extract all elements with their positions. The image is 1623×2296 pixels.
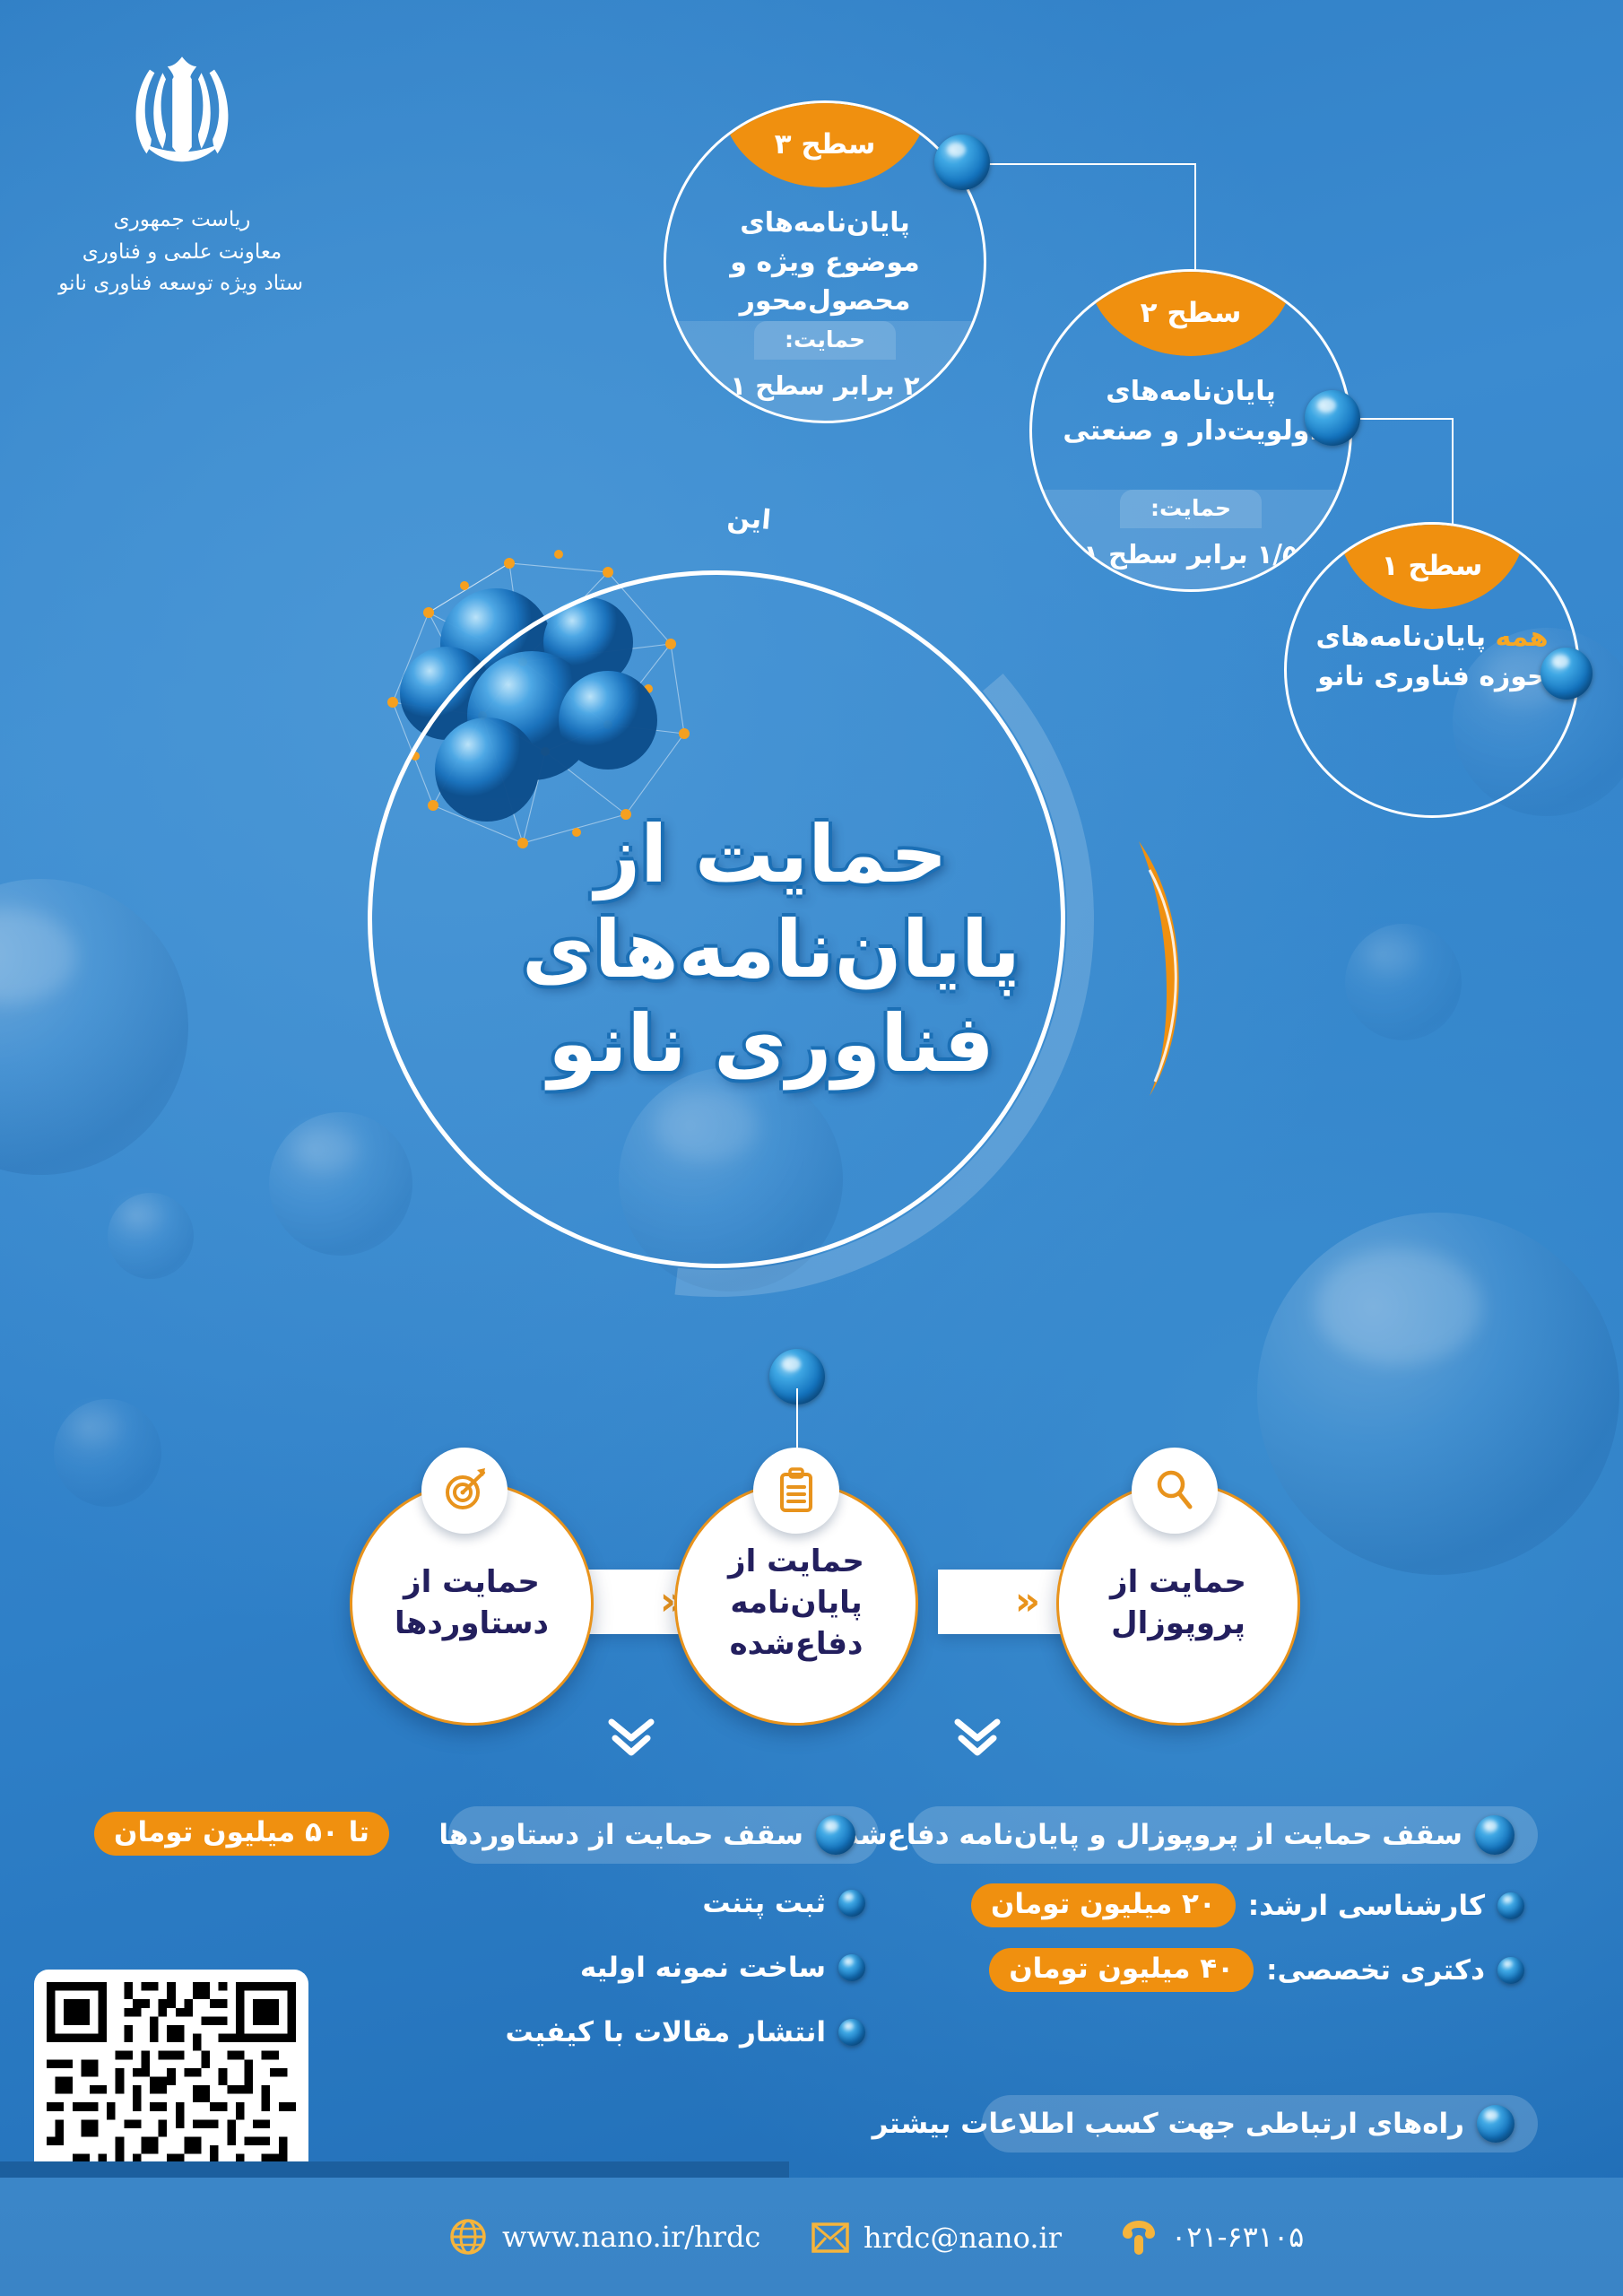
support-left-item: ساخت نمونه اولیه xyxy=(580,1952,865,1984)
organization-logo: ریاست جمهوری معاونت علمی و فناوری ستاد و… xyxy=(61,34,303,300)
support-right-item-label: دکتری تخصصی: xyxy=(1266,1954,1485,1987)
background-bubble xyxy=(1257,1213,1619,1575)
background-bubble xyxy=(54,1399,161,1507)
level-3-support: حمایت: ۲ برابر سطح ۱ xyxy=(666,321,984,421)
double-chevron-down-icon xyxy=(949,1715,1006,1760)
double-chevron-down-icon xyxy=(603,1715,660,1760)
support-right-heading: سقف حمایت از پروپوزال و پایان‌نامه دفاع‌… xyxy=(910,1806,1538,1864)
target-icon xyxy=(421,1448,508,1534)
footer-accent-strip xyxy=(0,2161,789,2178)
arc-text-content: این حمایت شامل همه پایان‌نامه‌های تحصیلا… xyxy=(296,499,772,536)
support-right-item-label: کارشناسی ارشد: xyxy=(1248,1890,1485,1922)
support-left-item: انتشار مقالات با کیفیت xyxy=(506,2016,865,2048)
process-step-defended-thesis-label: حمایت از پایان‌نامه دفاع‌شده xyxy=(677,1542,916,1665)
support-left-item-text: ساخت نمونه اولیه xyxy=(580,1952,826,1984)
support-left-item: ثبت پتنت xyxy=(702,1887,865,1919)
background-bubble xyxy=(0,879,188,1175)
title-line-3: فناوری نانو xyxy=(502,996,1040,1091)
contact-email[interactable]: hrdc@nano.ir xyxy=(811,2221,1062,2255)
poster-canvas: ریاست جمهوری معاونت علمی و فناوری ستاد و… xyxy=(0,0,1623,2296)
contact-website-text: www.nano.ir/hrdc xyxy=(502,2220,760,2254)
level-3-badge: سطح ۳ xyxy=(722,101,928,187)
support-left-heading: سقف حمایت از دستاوردها xyxy=(448,1806,879,1864)
telephone-icon xyxy=(1121,2217,1157,2257)
connector-level2-drop xyxy=(1452,418,1454,526)
support-right-item: دکتری تخصصی: ۴۰ میلیون تومان xyxy=(989,1948,1524,1992)
level-2-badge: سطح ۲ xyxy=(1088,270,1294,356)
support-left-amount: تا ۵۰ میلیون تومان xyxy=(94,1812,389,1856)
background-bubble xyxy=(108,1193,194,1279)
logo-line-3: ستاد ویژه توسعه فناوری نانو xyxy=(61,268,303,300)
magnifier-icon xyxy=(1132,1448,1218,1534)
logo-line-1: ریاست جمهوری xyxy=(61,204,303,237)
svg-text:این حمایت شامل همه پایان‌نامه‌: این حمایت شامل همه پایان‌نامه‌های تحصیلا… xyxy=(296,499,772,536)
level-3-description: پایان‌نامه‌های موضوع ویژه و محصول‌محور xyxy=(666,204,984,321)
connector-level3-to-level2 xyxy=(977,163,1196,165)
process-step-achievements-label: حمایت از دستاوردها xyxy=(352,1562,591,1645)
background-bubble xyxy=(1345,924,1462,1040)
level-2-support-label: حمایت: xyxy=(1120,490,1262,528)
globe-icon xyxy=(448,2217,488,2257)
bullet-orb xyxy=(816,1815,855,1855)
contact-phone[interactable]: ۰۲۱-۶۳۱۰۵ xyxy=(1121,2217,1304,2257)
ring-orange-arrow-marker xyxy=(1132,834,1202,1103)
level-3-support-label: حمایت: xyxy=(754,321,896,360)
title-line-2: پایان‌نامه‌های xyxy=(502,902,1040,997)
iran-emblem-icon xyxy=(101,34,263,196)
level-2-node-orb xyxy=(1305,390,1360,446)
support-left-item-text: انتشار مقالات با کیفیت xyxy=(506,2016,826,2048)
support-right-item-amount: ۴۰ میلیون تومان xyxy=(989,1948,1254,1992)
bullet-orb xyxy=(838,1890,865,1917)
level-2-description: پایان‌نامه‌های اولویت‌دار و صنعتی xyxy=(1032,372,1350,450)
bullet-orb xyxy=(1497,1892,1524,1919)
level-1-node-orb xyxy=(1541,648,1593,700)
connector-level3-drop xyxy=(1194,163,1196,271)
contact-website[interactable]: www.nano.ir/hrdc xyxy=(448,2217,760,2257)
support-right-item-amount: ۲۰ میلیون تومان xyxy=(971,1883,1236,1927)
clipboard-icon xyxy=(753,1448,839,1534)
level-1-highlight: همه xyxy=(1495,622,1548,653)
support-right-heading-text: سقف حمایت از پروپوزال و پایان‌نامه دفاع‌… xyxy=(828,1819,1462,1851)
level-3-support-value: ۲ برابر سطح ۱ xyxy=(730,370,919,401)
contact-heading: راه‌های ارتباطی جهت کسب اطلاعات بیشتر xyxy=(982,2095,1538,2152)
title-line-1: حمایت از xyxy=(502,807,1040,902)
contact-phone-text: ۰۲۱-۶۳۱۰۵ xyxy=(1171,2220,1304,2254)
contact-email-text: hrdc@nano.ir xyxy=(864,2221,1062,2255)
page-title: حمایت از پایان‌نامه‌های فناوری نانو xyxy=(502,807,1040,1091)
contact-heading-text: راه‌های ارتباطی جهت کسب اطلاعات بیشتر xyxy=(872,2108,1464,2140)
support-left-heading-text: سقف حمایت از دستاوردها xyxy=(438,1819,803,1851)
process-step-proposal-label: حمایت از پروپوزال xyxy=(1059,1562,1298,1645)
level-3-node-orb xyxy=(934,135,990,190)
support-left-item-text: ثبت پتنت xyxy=(702,1887,826,1919)
bullet-orb xyxy=(838,2019,865,2046)
level-1-circle[interactable]: سطح ۱ همه پایان‌نامه‌های حوزه فناوری نان… xyxy=(1284,522,1580,818)
bullet-orb xyxy=(1475,1815,1515,1855)
bullet-orb xyxy=(838,1954,865,1981)
bullet-orb xyxy=(1497,1957,1524,1984)
bullet-orb xyxy=(1477,2105,1515,2143)
support-right-item: کارشناسی ارشد: ۲۰ میلیون تومان xyxy=(971,1883,1524,1927)
flow-chevron-icon: « xyxy=(1015,1582,1040,1622)
logo-line-2: معاونت علمی و فناوری xyxy=(61,237,303,269)
envelope-icon xyxy=(811,2222,849,2253)
level-1-badge: سطح ۱ xyxy=(1338,523,1526,609)
level-1-description: همه پایان‌نامه‌های حوزه فناوری نانو xyxy=(1287,618,1577,696)
